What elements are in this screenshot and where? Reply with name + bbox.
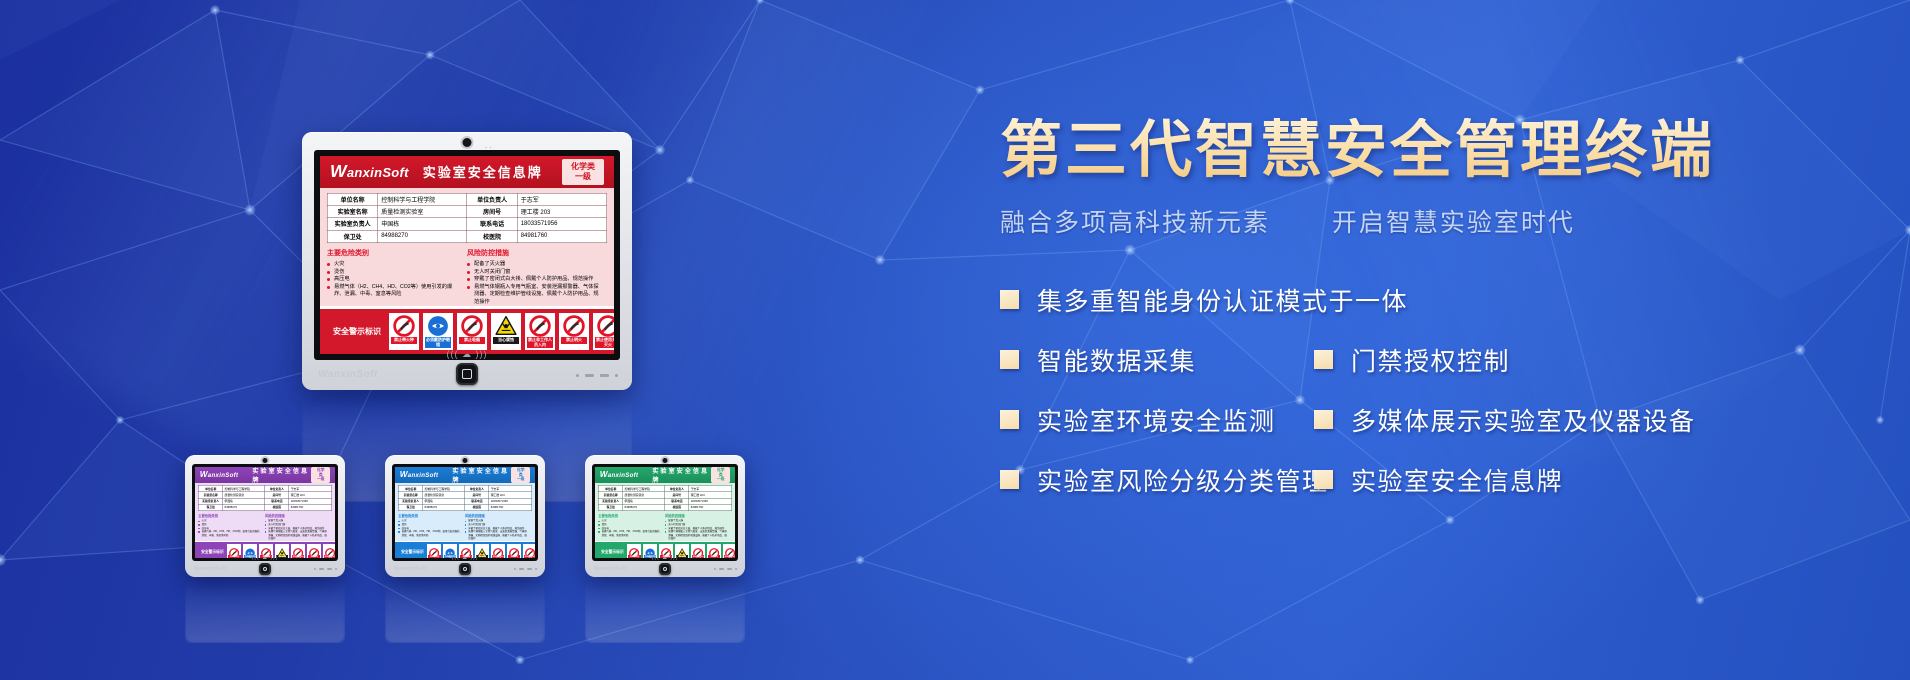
warning-sign-icon [476,545,488,555]
risk-sections: 主要危险类别火灾烫伤高压电易燃气体（H2、CH4、HD、CO2等）使用引发的爆炸… [598,513,731,541]
sign-caption: 禁止带火种 [628,555,640,558]
signboard-screen-green: WanxinSoft实验室安全信息牌化学类一级单位名称控制科学与工程学院单位负责… [595,467,735,558]
badge-category: 化学类 [315,468,326,477]
safety-signs-label: 安全警示标识 [397,550,427,555]
nfc-indicator-icon: ((( ☁ ))) [652,555,679,561]
warning-sign-icon [676,545,688,555]
device-brand-label: WanxinSoft [594,566,626,572]
control-list: 配备了灭火器无人时关闭门窗穿戴了密闭式白大褂、佩戴个人防护用品、规范操作易燃气体… [665,519,729,540]
signboard-body: 单位名称控制科学与工程学院单位负责人于志军实验室名称质量检测实验室房间号理工楼 … [395,483,535,541]
sign-caption: 禁止吸烟 [459,337,485,343]
sign-icon-group: 禁止带火种必须戴防护眼镜禁止吸烟当心腐蚀禁止非工作人员入内禁止明火禁止使用无水灭… [227,544,335,558]
feature-label: 实验室环境安全监测 [1037,402,1276,438]
risk-sections: 主要危险类别火灾烫伤高压电易燃气体（H2、CH4、HD、CO2等）使用引发的爆炸… [327,248,607,306]
feature-label: 实验室风险分级分类管理 [1037,462,1329,498]
safety-sign: 禁止明火 [559,313,589,350]
signboard-header: WanxinSoft实验室安全信息牌化学类一级 [595,467,735,483]
sign-caption: 必须戴防护眼镜 [425,337,451,348]
control-list: 配备了灭火器无人时关闭门窗穿戴了密闭式白大褂、佩戴个人防护用品、规范操作易燃气体… [265,519,329,540]
table-key-cell: 校医院 [665,504,689,510]
table-value-cell: 84988270 [223,504,265,510]
prohibit-sign-icon [391,315,417,337]
table-row: 保卫处84988270校医院84981760 [599,504,731,510]
page-title: 第三代智慧安全管理终端 [1000,118,1880,185]
table-value-cell: 84981760 [517,230,606,242]
hazard-list: 火灾烫伤高压电易燃气体（H2、CH4、HD、CO2等）使用引发的爆炸、泄漏、中毒… [327,261,461,299]
badge-level: 一级 [571,172,595,182]
nfc-indicator-icon: ((( ☁ ))) [452,555,479,561]
device-brand-label: WanxinSoft [194,566,226,572]
feature-item[interactable]: 实验室环境安全监测 [1000,402,1314,438]
list-item: 烫伤 [327,269,461,277]
promo-banner: .. WanxinSoft实验室安全信息牌化学类一级单位名称控制科学与工程学院单… [0,0,1910,680]
table-key-cell: 保卫处 [599,504,623,510]
sign-caption: 禁止非工作人员入内 [292,555,304,558]
prohibit-sign-icon [324,545,335,555]
safety-sign: 禁止非工作人员入内 [491,544,505,558]
prohibit-sign-icon [527,315,553,337]
square-bullet-icon [1000,350,1019,369]
list-item: 配备了灭火器 [467,261,601,269]
brand-logo: WanxinSoft [330,161,409,182]
front-camera-icon [663,458,668,463]
table-value-cell: 84981760 [689,504,731,510]
safety-signs-label: 安全警示标识 [325,326,389,337]
hazard-section: 主要危险类别火灾烫伤高压电易燃气体（H2、CH4、HD、CO2等）使用引发的爆炸… [198,513,265,541]
list-item: 易燃气体钢瓶入专用气瓶室、安装泄漏报警器、气体探测器、定期检查维护管线设施、佩戴… [265,530,329,541]
signboard-body: 单位名称控制科学与工程学院单位负责人于志军实验室名称质量检测实验室房间号理工楼 … [320,188,614,307]
sign-caption: 禁止使用无水灭火 [324,555,335,558]
signboard-title: 实验室安全信息牌 [252,467,311,484]
warning-sign-icon [493,315,519,337]
table-key-cell: 联系电话 [467,218,517,230]
device-chin: ((( ☁ ))) WanxinSoft [185,561,345,577]
sign-caption: 禁止明火 [561,337,587,343]
control-section-title: 风险防控措施 [265,513,329,518]
badge-level: 一级 [515,477,526,482]
control-list: 配备了灭火器无人时关闭门窗穿戴了密闭式白大褂、佩戴个人防护用品、规范操作易燃气体… [465,519,529,540]
list-item: 火灾 [327,261,461,269]
main-tablet-device: .. WanxinSoft实验室安全信息牌化学类一级单位名称控制科学与工程学院单… [302,132,632,390]
control-section: 风险防控措施配备了灭火器无人时关闭门窗穿戴了密闭式白大褂、佩戴个人防护用品、规范… [467,248,607,306]
signboard-title: 实验室安全信息牌 [652,467,711,484]
hazard-section: 主要危险类别火灾烫伤高压电易燃气体（H2、CH4、HD、CO2等）使用引发的爆炸… [598,513,665,541]
signboard-body: 单位名称控制科学与工程学院单位负责人于志军实验室名称质量检测实验室房间号理工楼 … [195,483,335,541]
table-key-cell: 实验室负责人 [328,218,378,230]
table-key-cell: 实验室名称 [328,205,378,217]
sign-icon-group: 禁止带火种必须戴防护眼镜禁止吸烟当心腐蚀禁止非工作人员入内禁止明火禁止使用无水灭… [627,544,735,558]
sign-caption: 禁止使用无水灭火 [595,337,614,348]
prohibit-sign-icon [561,315,587,337]
safety-sign: 禁止吸烟 [457,313,487,350]
sign-caption: 禁止带火种 [228,555,240,558]
home-button[interactable] [459,563,471,575]
table-key-cell: 房间号 [467,205,517,217]
safety-sign: 禁止明火 [707,544,721,558]
safety-sign: 禁止使用无水灭火 [723,544,735,558]
square-bullet-icon [1314,470,1333,489]
list-item: 易燃气体（H2、CH4、HD、CO2等）使用引发的爆炸、泄漏、中毒、窒息等风险 [198,530,262,537]
subtitle-left: 融合多项高科技新元素 [1000,209,1270,237]
list-item: 易燃气体（H2、CH4、HD、CO2等）使用引发的爆炸、泄漏、中毒、窒息等风险 [327,284,461,299]
table-row: 实验室负责人申国栋联系电话18033571956 [328,218,607,230]
control-section-title: 风险防控措施 [665,513,729,518]
safety-sign: 禁止使用无水灭火 [323,544,335,558]
table-value-cell: 18033571956 [517,218,606,230]
brand-logo: WanxinSoft [200,470,239,479]
hazard-section: 主要危险类别火灾烫伤高压电易燃气体（H2、CH4、HD、CO2等）使用引发的爆炸… [398,513,465,541]
prohibit-sign-icon [459,315,485,337]
list-item: 易燃气体钢瓶入专用气瓶室、安装泄漏报警器、气体探测器、定期检查维护管线设施、佩戴… [465,530,529,541]
home-button[interactable] [456,363,478,385]
badge-category: 化学类 [515,468,526,477]
page-subtitle: 融合多项高科技新元素 开启智慧实验室时代 [1000,203,1880,239]
device-brand-label: WanxinSoft [394,566,426,572]
safety-sign: 禁止使用无水灭火 [523,544,535,558]
prohibit-sign-icon [692,545,704,555]
safety-signs-label: 安全警示标识 [597,550,627,555]
safety-sign: 禁止非工作人员入内 [691,544,705,558]
sign-icon-group: 禁止带火种必须戴防护眼镜禁止吸烟当心腐蚀禁止非工作人员入内禁止明火禁止使用无水灭… [389,313,614,350]
status-indicator-dots [514,568,537,570]
device-chin: ((( ☁ ))) WanxinSoft [302,360,632,390]
prohibit-sign-icon [428,545,440,555]
status-indicator-dots [314,568,337,570]
control-list: 配备了灭火器无人时关闭门窗穿戴了密闭式白大褂、佩戴个人防护用品、规范操作易燃气体… [467,261,601,306]
hazard-section-title: 主要危险类别 [598,513,662,518]
hazard-class-badge: 化学类一级 [311,467,330,483]
table-row: 保卫处84988270校医院84981760 [328,230,607,242]
hazard-list: 火灾烫伤高压电易燃气体（H2、CH4、HD、CO2等）使用引发的爆炸、泄漏、中毒… [598,519,662,537]
prohibit-sign-icon [460,545,472,555]
table-key-cell: 保卫处 [399,504,423,510]
thumb-tablet-blue: WanxinSoft实验室安全信息牌化学类一级单位名称控制科学与工程学院单位负责… [385,455,545,577]
subtitle-right: 开启智慧实验室时代 [1332,209,1575,237]
signboard-title: 实验室安全信息牌 [452,467,511,484]
prohibit-sign-icon [595,315,614,337]
table-value-cell: 理工楼 203 [517,205,606,217]
feature-label: 智能数据采集 [1037,342,1196,378]
control-section: 风险防控措施配备了灭火器无人时关闭门窗穿戴了密闭式白大褂、佩戴个人防护用品、规范… [265,513,332,541]
feature-row: 智能数据采集 门禁授权控制 [1000,343,1880,377]
table-value-cell: 84981760 [289,504,331,510]
feature-row: 实验室环境安全监测 多媒体展示实验室及仪器设备 [1000,403,1880,437]
hazard-class-badge: 化学类一级 [511,467,530,483]
hazard-section-title: 主要危险类别 [198,513,262,518]
list-item: 易燃气体钢瓶入专用气瓶室、安装泄漏报警器、气体探测器、定期检查维护管线设施、佩戴… [467,284,601,307]
square-bullet-icon [1000,470,1019,489]
signboard-header: WanxinSoft实验室安全信息牌化学类一级 [395,467,535,483]
sign-caption: 禁止非工作人员入内 [527,337,553,348]
mandatory-sign-icon [644,545,656,555]
table-key-cell: 保卫处 [328,230,378,242]
brand-logo: WanxinSoft [600,470,639,479]
feature-label: 实验室安全信息牌 [1351,462,1563,498]
square-bullet-icon [1000,290,1019,309]
thumb-tablet-purple: WanxinSoft实验室安全信息牌化学类一级单位名称控制科学与工程学院单位负责… [185,455,345,577]
lab-info-table: 单位名称控制科学与工程学院单位负责人于志军实验室名称质量检测实验室房间号理工楼 … [327,193,607,244]
table-value-cell: 84981760 [489,504,531,510]
signboard-screen-purple: WanxinSoft实验室安全信息牌化学类一级单位名称控制科学与工程学院单位负责… [195,467,335,558]
safety-sign: 必须戴防护眼镜 [423,313,453,350]
mandatory-sign-icon [444,545,456,555]
signboard-title: 实验室安全信息牌 [423,162,543,181]
table-value-cell: 于志军 [517,193,606,205]
prohibit-sign-icon [292,545,304,555]
list-item: 无人时关闭门窗 [467,269,601,277]
sign-caption: 禁止带火种 [428,555,440,558]
prohibit-sign-icon [308,545,320,555]
safety-sign: 禁止明火 [307,544,321,558]
badge-level: 一级 [315,477,326,482]
list-item: 高压电 [327,276,461,284]
mandatory-sign-icon [244,545,256,555]
hazard-section: 主要危险类别火灾烫伤高压电易燃气体（H2、CH4、HD、CO2等）使用引发的爆炸… [327,248,467,306]
sign-caption: 禁止使用无水灭火 [724,555,735,558]
nfc-indicator-icon: ((( ☁ ))) [252,555,279,561]
risk-sections: 主要危险类别火灾烫伤高压电易燃气体（H2、CH4、HD、CO2等）使用引发的爆炸… [198,513,331,541]
banner-copy-column: 第三代智慧安全管理终端 融合多项高科技新元素 开启智慧实验室时代 集多重智能身份… [1000,118,1880,523]
safety-sign: 当心腐蚀 [491,313,521,350]
control-section-title: 风险防控措施 [467,248,601,258]
square-bullet-icon [1314,410,1333,429]
table-row: 保卫处84988270校医院84981760 [199,504,331,510]
feature-item[interactable]: 多媒体展示实验室及仪器设备 [1314,402,1696,438]
safety-signs-row: 安全警示标识禁止带火种必须戴防护眼镜禁止吸烟当心腐蚀禁止非工作人员入内禁止明火禁… [320,309,614,354]
hazard-class-badge: 化学类一级 [562,159,604,185]
safety-sign: 禁止非工作人员入内 [291,544,305,558]
control-section-title: 风险防控措施 [465,513,529,518]
table-row: 保卫处84988270校医院84981760 [399,504,531,510]
status-indicator-dots [576,374,618,377]
table-value-cell: 申国栋 [378,218,467,230]
feature-item[interactable]: 实验室风险分级分类管理 [1000,462,1314,498]
feature-item[interactable]: 实验室安全信息牌 [1314,462,1563,498]
front-camera-icon [463,458,468,463]
table-key-cell: 校医院 [467,230,517,242]
brand-logo: WanxinSoft [400,470,439,479]
sign-caption: 禁止非工作人员入内 [692,555,704,558]
safety-sign: 禁止带火种 [227,544,241,558]
mandatory-sign-icon [425,315,451,337]
table-row: 实验室名称质量检测实验室房间号理工楼 203 [328,205,607,217]
table-key-cell: 校医院 [465,504,489,510]
front-camera-icon [263,458,268,463]
prohibit-sign-icon [492,545,504,555]
hazard-list: 火灾烫伤高压电易燃气体（H2、CH4、HD、CO2等）使用引发的爆炸、泄漏、中毒… [198,519,262,537]
signboard-body: 单位名称控制科学与工程学院单位负责人于志军实验室名称质量检测实验室房间号理工楼 … [595,483,735,541]
table-key-cell: 保卫处 [199,504,223,510]
prohibit-sign-icon [228,545,240,555]
home-button[interactable] [259,563,271,575]
prohibit-sign-icon [708,545,720,555]
sign-caption: 禁止非工作人员入内 [492,555,504,558]
prohibit-sign-icon [508,545,520,555]
hazard-section-title: 主要危险类别 [327,248,461,258]
device-chin: ((( ☁ ))) WanxinSoft [585,561,745,577]
safety-sign: 禁止非工作人员入内 [525,313,555,350]
feature-label: 多媒体展示实验室及仪器设备 [1351,402,1696,438]
prohibit-sign-icon [260,545,272,555]
device-brand-label: WanxinSoft [318,369,378,380]
table-row: 单位名称控制科学与工程学院单位负责人于志军 [328,193,607,205]
device-chin: ((( ☁ ))) WanxinSoft [385,561,545,577]
table-value-cell: 84988270 [378,230,467,242]
feature-label: 门禁授权控制 [1351,342,1510,378]
safety-sign: 禁止明火 [507,544,521,558]
signboard-header: WanxinSoft实验室安全信息牌化学类一级 [320,156,614,188]
safety-sign: 禁止带火种 [427,544,441,558]
list-item: 易燃气体（H2、CH4、HD、CO2等）使用引发的爆炸、泄漏、中毒、窒息等风险 [598,530,662,537]
square-bullet-icon [1314,350,1333,369]
table-value-cell: 控制科学与工程学院 [378,193,467,205]
list-item: 穿戴了密闭式白大褂、佩戴个人防护用品、规范操作 [467,276,601,284]
table-value-cell: 84988270 [423,504,465,510]
sensor-dots-icon: .. [485,141,493,150]
home-button[interactable] [659,563,671,575]
sign-caption: 当心腐蚀 [493,337,519,343]
table-value-cell: 质量检测实验室 [378,205,467,217]
status-indicator-dots [714,568,737,570]
front-camera-icon [463,138,472,147]
signboard-screen-blue: WanxinSoft实验室安全信息牌化学类一级单位名称控制科学与工程学院单位负责… [395,467,535,558]
badge-category: 化学类 [715,468,726,477]
badge-category: 化学类 [571,162,595,172]
feature-item[interactable]: 门禁授权控制 [1314,342,1510,378]
prohibit-sign-icon [660,545,672,555]
square-bullet-icon [1000,410,1019,429]
nfc-indicator-icon: ((( ☁ ))) [447,349,488,360]
safety-sign: 禁止使用无水灭火 [593,313,614,350]
feature-item[interactable]: 集多重智能身份认证模式于一体 [1000,282,1408,318]
safety-sign: 禁止带火种 [627,544,641,558]
hazard-section-title: 主要危险类别 [398,513,462,518]
feature-label: 集多重智能身份认证模式于一体 [1037,282,1408,318]
feature-list: 集多重智能身份认证模式于一体 智能数据采集 门禁授权控制 实验室环境安全监测 [1000,283,1880,497]
sign-icon-group: 禁止带火种必须戴防护眼镜禁止吸烟当心腐蚀禁止非工作人员入内禁止明火禁止使用无水灭… [427,544,535,558]
table-key-cell: 单位名称 [328,193,378,205]
signboard-header: WanxinSoft实验室安全信息牌化学类一级 [195,467,335,483]
control-section: 风险防控措施配备了灭火器无人时关闭门窗穿戴了密闭式白大褂、佩戴个人防护用品、规范… [665,513,732,541]
hazard-class-badge: 化学类一级 [711,467,730,483]
thumb-tablet-green: WanxinSoft实验室安全信息牌化学类一级单位名称控制科学与工程学院单位负责… [585,455,745,577]
hazard-list: 火灾烫伤高压电易燃气体（H2、CH4、HD、CO2等）使用引发的爆炸、泄漏、中毒… [398,519,462,537]
lab-info-table: 单位名称控制科学与工程学院单位负责人于志军实验室名称质量检测实验室房间号理工楼 … [198,485,331,510]
table-key-cell: 校医院 [265,504,289,510]
list-item: 易燃气体钢瓶入专用气瓶室、安装泄漏报警器、气体探测器、定期检查维护管线设施、佩戴… [665,530,729,541]
sign-caption: 禁止使用无水灭火 [524,555,535,558]
badge-level: 一级 [715,477,726,482]
lab-info-table: 单位名称控制科学与工程学院单位负责人于志军实验室名称质量检测实验室房间号理工楼 … [598,485,731,510]
control-section: 风险防控措施配备了灭火器无人时关闭门窗穿戴了密闭式白大褂、佩戴个人防护用品、规范… [465,513,532,541]
feature-row: 实验室风险分级分类管理 实验室安全信息牌 [1000,463,1880,497]
table-key-cell: 单位负责人 [467,193,517,205]
prohibit-sign-icon [724,545,735,555]
feature-row: 集多重智能身份认证模式于一体 [1000,283,1880,317]
safety-sign: 禁止带火种 [389,313,419,350]
prohibit-sign-icon [524,545,535,555]
warning-sign-icon [276,545,288,555]
table-value-cell: 84988270 [623,504,665,510]
safety-signs-label: 安全警示标识 [197,550,227,555]
signboard-screen-main: WanxinSoft实验室安全信息牌化学类一级单位名称控制科学与工程学院单位负责… [320,156,614,354]
risk-sections: 主要危险类别火灾烫伤高压电易燃气体（H2、CH4、HD、CO2等）使用引发的爆炸… [398,513,531,541]
sign-caption: 禁止带火种 [391,337,417,343]
feature-item[interactable]: 智能数据采集 [1000,342,1314,378]
list-item: 易燃气体（H2、CH4、HD、CO2等）使用引发的爆炸、泄漏、中毒、窒息等风险 [398,530,462,537]
lab-info-table: 单位名称控制科学与工程学院单位负责人于志军实验室名称质量检测实验室房间号理工楼 … [398,485,531,510]
prohibit-sign-icon [628,545,640,555]
